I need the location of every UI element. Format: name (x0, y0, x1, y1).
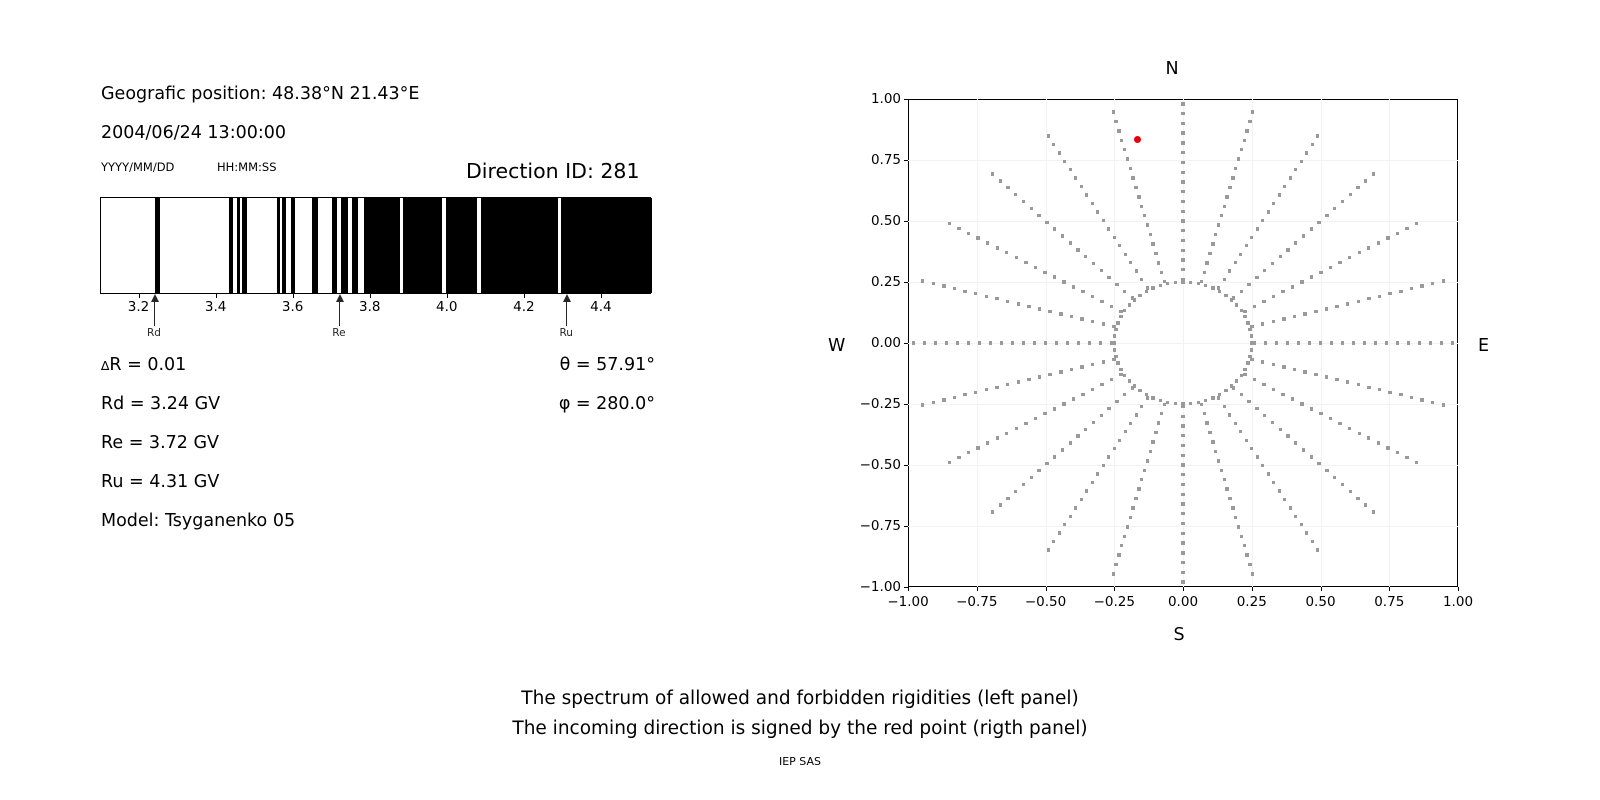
direction-dot (1245, 244, 1248, 247)
direction-dot (1100, 383, 1103, 386)
forbidden-band (229, 198, 233, 293)
direction-dot (1047, 134, 1050, 137)
direction-dot (1091, 295, 1094, 298)
direction-dot (1208, 252, 1211, 255)
direction-dot (1159, 399, 1162, 402)
direction-dot (1085, 193, 1088, 196)
direction-dot (1181, 102, 1184, 105)
direction-dot (1225, 487, 1228, 490)
direction-dot (1431, 282, 1434, 285)
direction-dot (1272, 295, 1275, 298)
direction-dot (1237, 525, 1240, 528)
x-tick-mark (370, 294, 371, 298)
direction-dot (974, 292, 977, 295)
direction-dot (1140, 478, 1143, 481)
direction-dot (1117, 129, 1120, 132)
direction-dot (1399, 393, 1402, 396)
direction-dot (1181, 483, 1184, 486)
direction-dot (1181, 112, 1184, 115)
direction-dot (1378, 388, 1381, 391)
direction-dot (1189, 402, 1192, 405)
y-tick-label: 0.25 (871, 274, 908, 290)
forbidden-band (481, 198, 558, 293)
direction-dot (1034, 417, 1037, 420)
spectrum-x-axis: 3.23.43.63.84.04.24.4RdReRu (100, 294, 651, 346)
x-tick-label: 3.2 (128, 299, 149, 315)
direction-dot (1024, 422, 1027, 425)
direction-dot (1367, 386, 1370, 389)
direction-dot (1325, 214, 1328, 217)
direction-id-label: Direction ID: 281 (466, 159, 640, 183)
param-rd: Rd = 3.24 GV (101, 394, 220, 414)
direction-dot (1317, 221, 1320, 224)
direction-dot (1045, 462, 1048, 465)
direction-dot (1205, 421, 1208, 424)
direction-dot (1181, 424, 1184, 427)
direction-dot (1063, 160, 1066, 163)
direction-dot (1325, 469, 1328, 472)
direction-dot (1218, 393, 1221, 396)
direction-dot (976, 236, 979, 239)
direction-dot (1077, 341, 1080, 344)
x-tick-label: 4.4 (590, 299, 611, 315)
direction-dot (1145, 393, 1148, 396)
direction-dot (1107, 276, 1110, 279)
figure-canvas: Geografic position: 48.38°N 21.43°E 2004… (0, 0, 1600, 800)
y-tick-label: −0.75 (860, 518, 908, 534)
direction-dot (1200, 280, 1203, 283)
direction-dot (1181, 541, 1184, 544)
direction-dot (1181, 249, 1184, 252)
forbidden-band (312, 198, 318, 293)
direction-dot (1367, 246, 1370, 249)
direction-dot (1044, 341, 1047, 344)
direction-dot (1011, 341, 1014, 344)
direction-dot (1325, 307, 1328, 310)
direction-dot (1325, 375, 1328, 378)
direction-dot (1442, 279, 1445, 282)
forbidden-band (446, 198, 477, 293)
direction-dot (1231, 506, 1234, 509)
direction-dot (995, 297, 998, 300)
direction-dot (948, 222, 951, 225)
direction-dot (996, 436, 999, 439)
direction-dot (1235, 379, 1238, 382)
direction-dot (1418, 341, 1421, 344)
direction-dot (1319, 412, 1322, 415)
direction-dot (1053, 275, 1056, 278)
direction-dot (1059, 370, 1062, 373)
direction-dot (1251, 110, 1254, 113)
direction-dot (957, 456, 960, 459)
direction-dot (1005, 251, 1008, 254)
direction-dot (1181, 171, 1184, 174)
direction-dot (1293, 368, 1296, 371)
direction-dot (1256, 227, 1259, 230)
direction-dot (1237, 157, 1240, 160)
direction-dot (1052, 540, 1055, 543)
direction-dot (1014, 193, 1017, 196)
direction-dot (1218, 290, 1221, 293)
direction-dot (1388, 391, 1391, 394)
direction-dot (1420, 284, 1423, 287)
direction-dot (1137, 195, 1140, 198)
direction-dot (1440, 341, 1443, 344)
direction-dot (1084, 255, 1087, 258)
forbidden-band (341, 198, 349, 293)
direction-dot (1303, 370, 1306, 373)
direction-dot (1319, 341, 1322, 344)
direction-dot (1181, 532, 1184, 535)
direction-dot (1420, 398, 1423, 401)
direction-dot (957, 227, 960, 230)
direction-dot (1308, 341, 1311, 344)
direction-dot (1006, 497, 1009, 500)
direction-dot (1143, 214, 1146, 217)
direction-dot (1061, 234, 1064, 237)
direction-dot (1211, 440, 1214, 443)
direction-dot (1214, 233, 1217, 236)
direction-dot (1038, 307, 1041, 310)
direction-dot (1114, 328, 1117, 331)
direction-dot (1314, 310, 1317, 313)
direction-dot (1072, 397, 1075, 400)
param-re: Re = 3.72 GV (101, 433, 219, 453)
direction-dot (1069, 168, 1072, 171)
direction-dot (945, 341, 948, 344)
direction-dot (1396, 232, 1399, 235)
direction-dot (1396, 451, 1399, 454)
marker-label-ru: Ru (559, 327, 572, 339)
direction-dot (1250, 334, 1253, 337)
direction-dot (1283, 498, 1286, 501)
direction-dot (1305, 151, 1308, 154)
direction-dot (1281, 393, 1284, 396)
x-tick-label: 3.4 (205, 299, 226, 315)
direction-dot (1303, 312, 1306, 315)
direction-dot (1217, 396, 1220, 399)
direction-dot (1080, 185, 1083, 188)
direction-dot (1224, 389, 1227, 392)
direction-dot (1174, 402, 1177, 405)
direction-dot (1261, 219, 1264, 222)
direction-dot (1113, 348, 1116, 351)
direction-dot (1181, 402, 1184, 405)
direction-dot (967, 451, 970, 454)
direction-dot (1181, 415, 1184, 418)
direction-dot (1293, 315, 1296, 318)
caption-line-1: The spectrum of allowed and forbidden ri… (0, 688, 1600, 709)
direction-dot (1261, 464, 1264, 467)
direction-dot (1034, 266, 1037, 269)
direction-dot (1372, 172, 1375, 175)
direction-dot (1263, 269, 1266, 272)
direction-dot (1124, 430, 1127, 433)
direction-dot (1048, 373, 1051, 376)
direction-dot (1181, 268, 1184, 271)
direction-dot (1181, 122, 1184, 125)
direction-dot (1157, 421, 1160, 424)
direction-dot (1181, 229, 1184, 232)
incoming-direction-chart: −1.00−0.75−0.50−0.250.000.250.500.751.00… (908, 99, 1458, 587)
direction-dot (1297, 341, 1300, 344)
direction-dot (1140, 278, 1143, 281)
direction-dot (1088, 341, 1091, 344)
direction-dot (1096, 210, 1099, 213)
direction-dot (1181, 580, 1184, 583)
spectrum-plot-area (100, 197, 651, 294)
direction-dot (1151, 396, 1154, 399)
direction-dot (1100, 300, 1103, 303)
direction-dot (1294, 241, 1297, 244)
direction-dot (1181, 512, 1184, 515)
x-tick-mark (1321, 587, 1322, 591)
direction-dot (1154, 431, 1157, 434)
direction-dot (1272, 363, 1275, 366)
direction-dot (1053, 407, 1056, 410)
direction-dot (1364, 179, 1367, 182)
direction-dot (1181, 131, 1184, 134)
direction-dot (1151, 440, 1154, 443)
direction-dot (1217, 223, 1220, 226)
direction-dot (1107, 455, 1110, 458)
direction-dot (1224, 294, 1227, 297)
direction-dot (1053, 227, 1056, 230)
direction-dot (1140, 405, 1143, 408)
direction-dot (1112, 110, 1115, 113)
direction-dot (1113, 341, 1116, 344)
direction-dot (1341, 341, 1344, 344)
direction-dot (1091, 481, 1094, 484)
direction-dot (1074, 506, 1077, 509)
direction-dot (1250, 341, 1253, 344)
direction-dot (1129, 261, 1132, 264)
direction-dot (995, 386, 998, 389)
direction-dot (1114, 355, 1117, 358)
direction-dot (1281, 290, 1284, 293)
direction-dot (1243, 373, 1246, 376)
direction-dot (1335, 305, 1338, 308)
direction-dot (1220, 469, 1223, 472)
direction-dot (1205, 261, 1208, 264)
y-tick-label: −0.25 (860, 396, 908, 412)
direction-dot (1311, 143, 1314, 146)
direction-dot (1149, 233, 1152, 236)
direction-dot (1181, 141, 1184, 144)
direction-dot (1151, 242, 1154, 245)
direction-dot (1203, 412, 1206, 415)
direction-dot (1223, 278, 1226, 281)
datetime-label: 2004/06/24 13:00:00 (101, 123, 286, 143)
direction-dot (1214, 450, 1217, 453)
direction-dot (956, 341, 959, 344)
forbidden-band (237, 198, 240, 293)
x-tick-mark (447, 294, 448, 298)
y-tick-label: 1.00 (871, 91, 908, 107)
direction-dot (1240, 535, 1243, 538)
direction-dot (1262, 300, 1265, 303)
direction-dot (1415, 222, 1418, 225)
param-phi: φ = 280.0° (455, 394, 655, 414)
direction-dot (1267, 210, 1270, 213)
forbidden-band (403, 198, 442, 293)
direction-dot (1264, 341, 1267, 344)
direction-dot (1070, 368, 1073, 371)
direction-dot (923, 341, 926, 344)
x-tick-label: 3.8 (359, 299, 380, 315)
direction-dot (1240, 374, 1243, 377)
direction-dot (1181, 161, 1184, 164)
param-theta: θ = 57.91° (455, 355, 655, 375)
direction-dot (1055, 341, 1058, 344)
direction-dot (1283, 185, 1286, 188)
direction-dot (996, 246, 999, 249)
direction-dot (1363, 341, 1366, 344)
direction-dot (974, 391, 977, 394)
direction-dot (1271, 421, 1274, 424)
direction-dot (1279, 428, 1282, 431)
direction-dot (1451, 341, 1454, 344)
direction-dot (1014, 490, 1017, 493)
direction-dot (1357, 300, 1360, 303)
param-delta-r-value: R = 0.01 (109, 355, 186, 375)
forbidden-band (277, 198, 280, 293)
direction-dot (1329, 417, 1332, 420)
direction-dot (1115, 400, 1118, 403)
direction-dot (1289, 176, 1292, 179)
direction-dot (1181, 551, 1184, 554)
direction-dot (1099, 341, 1102, 344)
direction-dot (1006, 186, 1009, 189)
direction-dot (1356, 497, 1359, 500)
direction-dot (1228, 186, 1231, 189)
direction-dot (1181, 151, 1184, 154)
direction-dot (1062, 402, 1065, 405)
direction-dot (1181, 200, 1184, 203)
direction-dot (1243, 310, 1246, 313)
direction-dot (1294, 441, 1297, 444)
direction-dot (1076, 434, 1079, 437)
direction-dot (1220, 214, 1223, 217)
direction-dot (921, 403, 924, 406)
direction-dot (1234, 167, 1237, 170)
direction-dot (1240, 393, 1243, 396)
direction-dot (1346, 380, 1349, 383)
direction-dot (1017, 380, 1020, 383)
direction-dot (1234, 422, 1237, 425)
direction-dot (1386, 446, 1389, 449)
direction-dot (1405, 456, 1408, 459)
direction-dot (1062, 280, 1065, 283)
direction-dot (1211, 242, 1214, 245)
direction-dot (1278, 489, 1281, 492)
direction-dot (1250, 236, 1253, 239)
direction-dot (912, 341, 915, 344)
direction-dot (1230, 298, 1233, 301)
direction-dot (1123, 374, 1126, 377)
direction-dot (1114, 563, 1117, 566)
direction-dot (1092, 421, 1095, 424)
direction-dot (963, 290, 966, 293)
direction-dot (1113, 334, 1116, 337)
direction-dot (1271, 262, 1274, 265)
direction-dot (1091, 320, 1094, 323)
direction-dot (1128, 379, 1131, 382)
direction-dot (1143, 469, 1146, 472)
direction-dot (1223, 405, 1226, 408)
direction-dot (1385, 341, 1388, 344)
x-tick-mark (601, 294, 602, 298)
compass-label-north: N (1165, 59, 1178, 79)
direction-dot (1386, 236, 1389, 239)
direction-dot (1181, 473, 1184, 476)
y-tick-mark (904, 526, 908, 527)
direction-dot (1149, 450, 1152, 453)
direction-dot (1211, 286, 1214, 289)
direction-dot (1442, 403, 1445, 406)
direction-dot (1181, 434, 1184, 437)
marker-label-re: Re (332, 327, 345, 339)
direction-dot (1146, 459, 1149, 462)
geographic-position-label: Geografic position: 48.38°N 21.43°E (101, 84, 419, 104)
x-tick-mark (977, 587, 978, 591)
direction-dot (1100, 269, 1103, 272)
direction-dot (1429, 341, 1432, 344)
direction-dot (1017, 302, 1020, 305)
direction-dot (1235, 303, 1238, 306)
param-ru: Ru = 4.31 GV (101, 472, 219, 492)
direction-dot (1138, 294, 1141, 297)
direction-dot (1081, 393, 1084, 396)
direction-dot (985, 388, 988, 391)
direction-dot (934, 341, 937, 344)
direction-dot (1102, 360, 1105, 363)
direction-dot (1349, 490, 1352, 493)
direction-dot (1275, 341, 1278, 344)
direction-dot (1140, 205, 1143, 208)
direction-dot (1074, 176, 1077, 179)
direction-dot (1080, 365, 1083, 368)
direction-dot (1047, 548, 1050, 551)
polar-scatter-points (908, 99, 1458, 587)
direction-dot (1119, 315, 1122, 318)
y-tick-mark (904, 99, 908, 100)
direction-dot (1069, 515, 1072, 518)
direction-dot (1367, 297, 1370, 300)
direction-dot (1255, 276, 1258, 279)
direction-dot (1120, 139, 1123, 142)
direction-dot (1228, 497, 1231, 500)
direction-dot (1333, 476, 1336, 479)
direction-dot (1027, 378, 1030, 381)
direction-dot (1091, 363, 1094, 366)
direction-dot (1000, 341, 1003, 344)
direction-dot (1129, 167, 1132, 170)
x-tick-mark (139, 294, 140, 298)
y-tick-mark (904, 465, 908, 466)
direction-dot (1248, 355, 1251, 358)
direction-dot (1367, 436, 1370, 439)
direction-dot (1052, 143, 1055, 146)
direction-dot (1239, 430, 1242, 433)
direction-dot (1300, 280, 1303, 283)
direction-dot (1372, 510, 1375, 513)
direction-dot (1181, 561, 1184, 564)
direction-dot (1267, 472, 1270, 475)
direction-dot (1247, 400, 1250, 403)
direction-dot (1272, 388, 1275, 391)
direction-dot (1159, 284, 1162, 287)
